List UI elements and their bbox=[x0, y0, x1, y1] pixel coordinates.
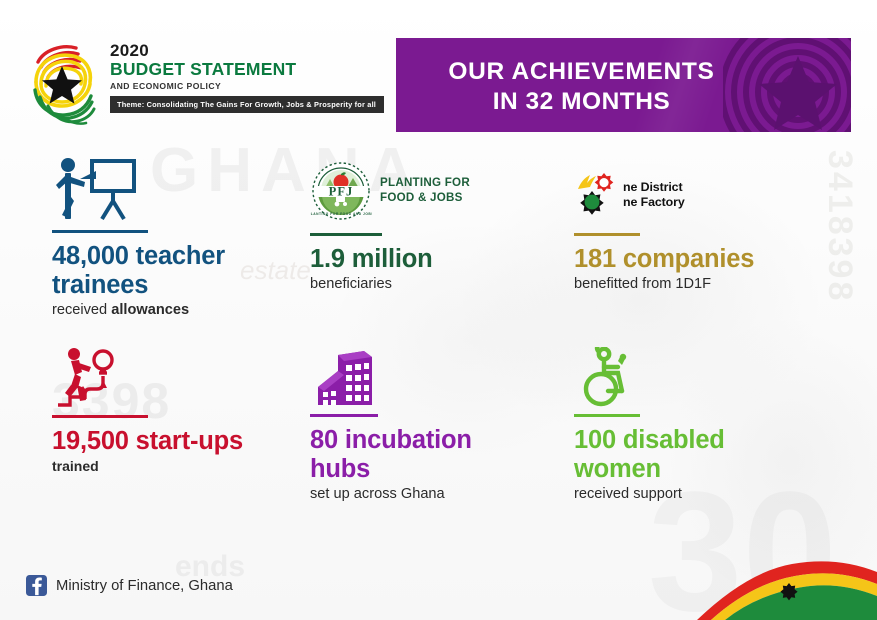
stat-visual bbox=[52, 343, 300, 409]
ghana-flag-ribbon bbox=[677, 532, 877, 620]
stat-accent-rule bbox=[574, 233, 640, 236]
ghana-fingerprint-star-logo bbox=[28, 36, 100, 128]
svg-text:PLANTING FOR FOOD AND JOBS: PLANTING FOR FOOD AND JOBS bbox=[310, 212, 372, 216]
achievements-banner: OUR ACHIEVEMENTS IN 32 MONTHS bbox=[396, 38, 851, 132]
wheelchair-woman-icon bbox=[574, 347, 646, 409]
brand-year: 2020 bbox=[110, 42, 384, 59]
one-district-one-factory-icon bbox=[574, 169, 622, 221]
runner-lightbulb-stairs-icon bbox=[52, 347, 132, 409]
stat-accent-rule bbox=[310, 414, 378, 417]
pfj-words-line1: PLANTING FOR bbox=[380, 176, 470, 191]
pfj-words-line2: FOOD & JOBS bbox=[380, 191, 470, 206]
banner-title: OUR ACHIEVEMENTS IN 32 MONTHS bbox=[396, 38, 851, 117]
stat-headline: 48,000 teacher trainees bbox=[52, 242, 267, 300]
stat-headline: 1.9 million bbox=[310, 245, 558, 274]
teacher-whiteboard-icon bbox=[52, 157, 138, 221]
brand-title: BUDGET STATEMENT bbox=[110, 60, 384, 80]
one-district-one-factory-words: ne District ne Factory bbox=[623, 180, 685, 209]
stat-card-planting-for-food-and-jobs: PFJ PLANTING FOR FOOD AND JOBS PLANTING … bbox=[300, 155, 558, 337]
pfj-logo-lockup: PFJ PLANTING FOR FOOD AND JOBS PLANTING … bbox=[310, 161, 470, 221]
odof-words-line2: ne Factory bbox=[623, 195, 685, 210]
stat-subtext: received support bbox=[574, 486, 877, 504]
stat-card-teacher-trainees: 48,000 teacher trainees received allowan… bbox=[0, 155, 300, 337]
stat-subtext: benefitted from 1D1F bbox=[574, 276, 877, 294]
stat-card-disabled-women-supported: 100 disabled women received support bbox=[558, 337, 877, 517]
stat-headline: 100 disabled women bbox=[574, 426, 774, 484]
pfj-logo-words: PLANTING FOR FOOD & JOBS bbox=[380, 176, 470, 206]
facebook-icon[interactable] bbox=[26, 575, 47, 596]
pfj-badge-icon: PFJ PLANTING FOR FOOD AND JOBS bbox=[310, 161, 372, 221]
footer-label: Ministry of Finance, Ghana bbox=[56, 578, 233, 594]
stat-headline: 80 incubation hubs bbox=[310, 426, 505, 484]
stat-accent-rule bbox=[574, 414, 640, 417]
stat-accent-rule bbox=[52, 230, 148, 233]
stat-subtext: beneficiaries bbox=[310, 276, 558, 294]
stats-grid: 48,000 teacher trainees received allowan… bbox=[0, 155, 877, 535]
stat-visual: PFJ PLANTING FOR FOOD AND JOBS PLANTING … bbox=[310, 155, 558, 221]
stat-accent-rule bbox=[310, 233, 382, 236]
stat-subtext-prefix: received bbox=[52, 302, 111, 318]
stat-headline: 19,500 start-ups bbox=[52, 427, 300, 456]
brand-text-block: 2020 BUDGET STATEMENT AND ECONOMIC POLIC… bbox=[110, 36, 384, 113]
stat-subtext: received allowances bbox=[52, 302, 300, 320]
stat-card-one-district-one-factory: ne District ne Factory 181 companies ben… bbox=[558, 155, 877, 337]
stat-subtext: trained bbox=[52, 458, 300, 475]
banner-title-line1: OUR ACHIEVEMENTS bbox=[396, 57, 767, 87]
stat-card-start-ups-trained: 19,500 start-ups trained bbox=[0, 337, 300, 517]
stat-subtext-emphasis: allowances bbox=[111, 302, 189, 318]
one-district-one-factory-lockup: ne District ne Factory bbox=[574, 169, 685, 221]
building-icon bbox=[310, 347, 382, 409]
stat-visual bbox=[574, 343, 877, 409]
stat-visual bbox=[52, 155, 300, 221]
stat-subtext: set up across Ghana bbox=[310, 486, 558, 504]
footer-credit: Ministry of Finance, Ghana bbox=[26, 575, 233, 596]
odof-words-line1: ne District bbox=[623, 180, 685, 195]
brand-theme-badge: Theme: Consolidating The Gains For Growt… bbox=[110, 96, 384, 113]
brand-lockup: 2020 BUDGET STATEMENT AND ECONOMIC POLIC… bbox=[28, 36, 384, 128]
stat-visual: ne District ne Factory bbox=[574, 155, 877, 221]
stat-headline: 181 companies bbox=[574, 245, 877, 274]
stat-accent-rule bbox=[52, 415, 148, 418]
banner-title-line2: IN 32 MONTHS bbox=[396, 87, 767, 117]
stat-visual bbox=[310, 343, 558, 409]
header: 2020 BUDGET STATEMENT AND ECONOMIC POLIC… bbox=[0, 0, 877, 146]
stat-card-incubation-hubs: 80 incubation hubs set up across Ghana bbox=[300, 337, 558, 517]
svg-text:PFJ: PFJ bbox=[329, 185, 354, 199]
brand-subtitle: AND ECONOMIC POLICY bbox=[110, 81, 384, 91]
